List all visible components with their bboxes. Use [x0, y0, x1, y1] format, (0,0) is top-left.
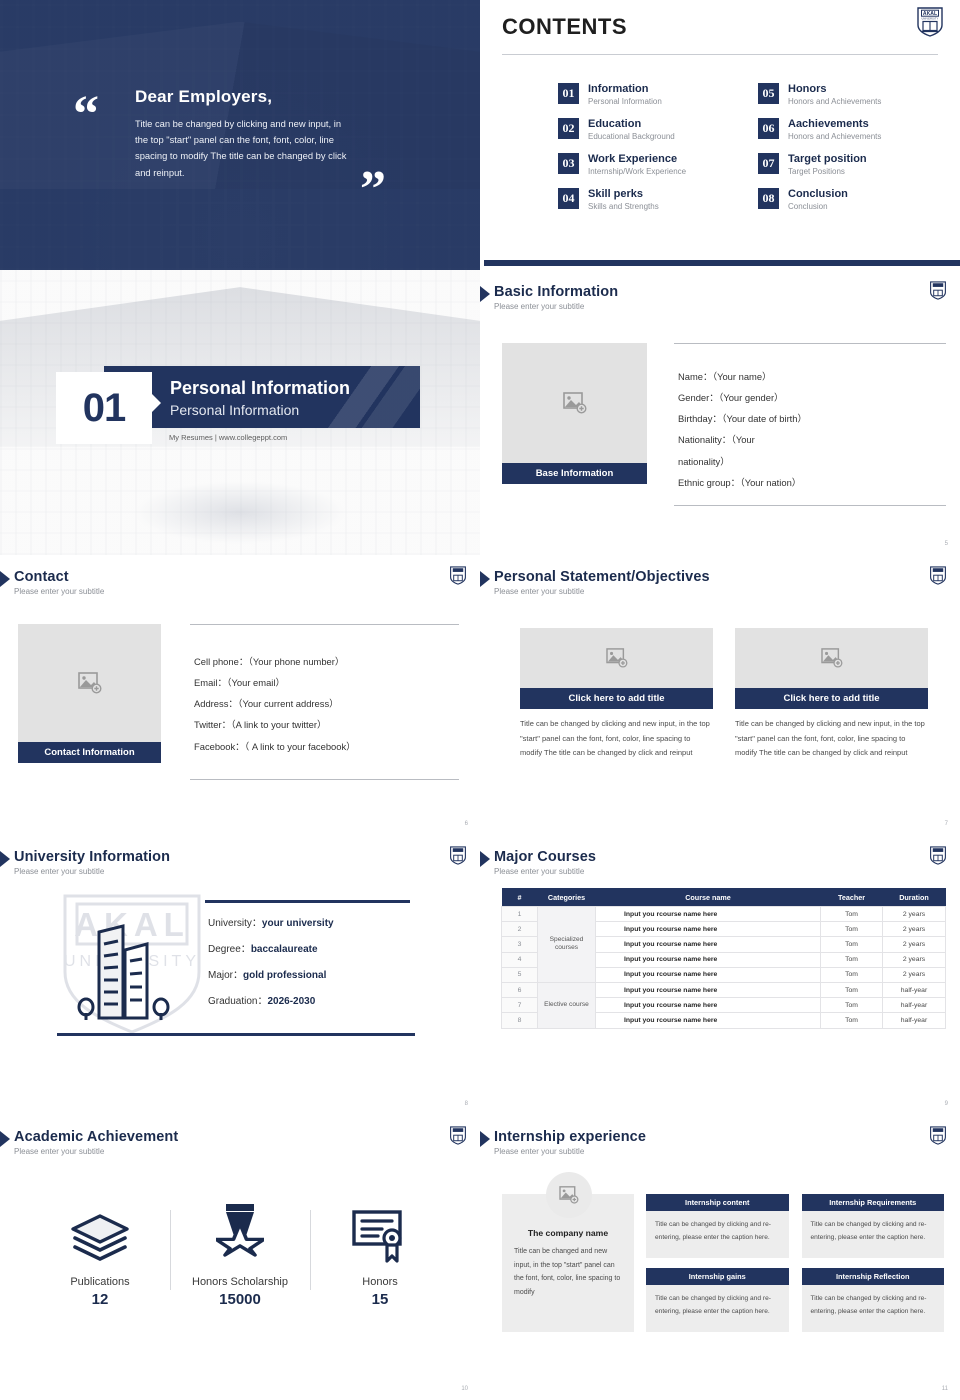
cell-duration: 2 years [883, 937, 946, 952]
divider-title: Personal Information [170, 378, 350, 399]
table-row[interactable]: 1 Specialized courses Input you rcourse … [502, 907, 946, 922]
quote-close-icon: ” [360, 172, 386, 208]
akal-logo-icon [930, 566, 946, 590]
cell-coursename: Input you rcourse name here [596, 922, 821, 937]
col-duration: Duration [883, 888, 946, 907]
cell-coursename: Input you rcourse name here [596, 998, 821, 1013]
triangle-bullet-icon [480, 286, 490, 302]
cell-teacher: Tom [821, 952, 883, 967]
col-index: # [502, 888, 538, 907]
achievement-stats: Publications 12 Honors Scholarship 15000 [0, 1202, 480, 1308]
photo-placeholder-wrap[interactable]: Base Information [502, 343, 647, 484]
toc-number: 02 [558, 118, 579, 139]
statement-card-2[interactable]: Click here to add title Title can be cha… [735, 628, 928, 761]
major-label: Major： [208, 970, 243, 981]
internship-layout: The company name Title can be changed an… [480, 1178, 960, 1332]
svg-text:AKAL: AKAL [923, 11, 937, 17]
slide-university-information[interactable]: University Information Please enter your… [0, 835, 480, 1115]
page-number: 9 [945, 1101, 948, 1107]
contents-bottom-bar [484, 260, 960, 266]
cell-teacher: Tom [821, 967, 883, 982]
page-subtitle: Please enter your subtitle [494, 1147, 960, 1156]
internship-card-grid: Internship content Title can be changed … [646, 1194, 944, 1332]
triangle-bullet-icon [0, 571, 10, 587]
cell-duration: half-year [883, 998, 946, 1013]
slide-major-courses[interactable]: Major Courses Please enter your subtitle… [480, 835, 960, 1115]
panel-bottom-rule [674, 505, 946, 506]
akal-logo-icon [930, 281, 946, 305]
stat-publications[interactable]: Publications 12 [30, 1202, 170, 1308]
slide-cover[interactable]: “ ” Dear Employers, Title can be changed… [0, 0, 480, 270]
graduation-value: 2026-2030 [267, 996, 315, 1007]
cell-index: 6 [502, 982, 538, 997]
card-label[interactable]: Click here to add title [520, 688, 713, 709]
slide-header: University Information Please enter your… [0, 835, 480, 876]
slide-header: Contact Please enter your subtitle [0, 555, 480, 596]
slide-header: Major Courses Please enter your subtitle [480, 835, 960, 876]
akal-logo-icon [930, 846, 946, 870]
internship-card-requirements[interactable]: Internship Requirements Title can be cha… [802, 1194, 945, 1258]
quote-open-icon: “ [73, 97, 99, 133]
image-placeholder-icon [563, 392, 587, 414]
triangle-bullet-icon [0, 851, 10, 867]
card-text: Title can be changed by clicking and new… [735, 717, 928, 761]
page-subtitle: Please enter your subtitle [14, 587, 480, 596]
toc-item-05[interactable]: 05 Honors Honors and Achievements [758, 83, 938, 107]
cell-coursename: Input you rcourse name here [596, 952, 821, 967]
degree-row: Degree：baccalaureate [208, 940, 410, 955]
certificate-icon [310, 1202, 450, 1264]
cell-coursename: Input you rcourse name here [596, 967, 821, 982]
books-icon [30, 1202, 170, 1264]
page-subtitle: Please enter your subtitle [14, 1147, 480, 1156]
courses-table[interactable]: # Categories Course name Teacher Duratio… [501, 888, 946, 1029]
university-value: your university [262, 918, 334, 929]
photo-placeholder[interactable] [18, 624, 161, 742]
toc-subtitle: Conclusion [788, 202, 848, 212]
info-row-address: Address：（Your current address） [194, 693, 459, 714]
cover-title: Dear Employers, [135, 87, 272, 107]
page-title: CONTENTS [502, 14, 938, 40]
page-title: Contact [14, 569, 480, 585]
cell-duration: 2 years [883, 952, 946, 967]
slide-deck: “ ” Dear Employers, Title can be changed… [0, 0, 960, 1400]
photo-placeholder[interactable] [502, 343, 647, 463]
stat-label: Honors [310, 1276, 450, 1288]
toc-number: 07 [758, 153, 779, 174]
cell-index: 4 [502, 952, 538, 967]
triangle-bullet-icon [480, 571, 490, 587]
info-row-nationality-cont: nationality） [678, 451, 946, 472]
statement-columns: Click here to add title Title can be cha… [480, 612, 960, 761]
cell-teacher: Tom [821, 1013, 883, 1028]
cell-coursename: Input you rcourse name here [596, 907, 821, 922]
toc-number: 04 [558, 188, 579, 209]
page-number: 5 [945, 541, 948, 547]
cell-coursename: Input you rcourse name here [596, 937, 821, 952]
cell-teacher: Tom [821, 998, 883, 1013]
internship-card-gains[interactable]: Internship gains Title can be changed by… [646, 1268, 789, 1332]
akal-logo-icon: AKAL UNIVERSITY [917, 7, 943, 42]
stat-label: Publications [30, 1276, 170, 1288]
contact-info-panel: Cell phone：（Your phone number） Email：（Yo… [190, 624, 459, 780]
page-title: Basic Information [494, 284, 960, 300]
slide-header: Academic Achievement Please enter your s… [0, 1115, 480, 1156]
photo-label: Base Information [502, 463, 647, 484]
cell-index: 5 [502, 967, 538, 982]
cell-teacher: Tom [821, 982, 883, 997]
toc-title: Work Experience [588, 153, 686, 166]
slide-academic-achievement[interactable]: Academic Achievement Please enter your s… [0, 1115, 480, 1400]
stat-label: Honors Scholarship [170, 1276, 310, 1288]
basic-info-list: Name：（Your name） Gender：（Your gender） Bi… [674, 344, 946, 493]
divider-number-box: 01 [56, 372, 152, 444]
col-coursename: Course name [596, 888, 821, 907]
page-title: Internship experience [494, 1129, 960, 1145]
toc-item-07[interactable]: 07 Target position Target Positions [758, 153, 938, 177]
cell-coursename: Input you rcourse name here [596, 982, 821, 997]
cell-duration: half-year [883, 982, 946, 997]
toc-subtitle: Target Positions [788, 167, 867, 177]
toc-subtitle: Internship/Work Experience [588, 167, 686, 177]
cell-index: 1 [502, 907, 538, 922]
image-placeholder-icon [606, 648, 628, 668]
slide-basic-information[interactable]: Basic Information Please enter your subt… [480, 270, 960, 555]
toc-item-08[interactable]: 08 Conclusion Conclusion [758, 188, 938, 212]
triangle-bullet-icon [0, 1131, 10, 1147]
toc-title: Honors [788, 83, 881, 96]
stat-honors[interactable]: Honors 15 [310, 1202, 450, 1308]
university-panel: AKAL UNIVERSITY [55, 892, 415, 1042]
card-header: Internship content [646, 1194, 789, 1211]
image-placeholder-icon [559, 1186, 579, 1204]
company-name: The company name [514, 1228, 622, 1238]
toc-item-04[interactable]: 04 Skill perks Skills and Strengths [558, 188, 738, 212]
col-teacher: Teacher [821, 888, 883, 907]
info-row-facebook: Facebook：（ A link to your facebook） [194, 736, 459, 757]
page-title: Academic Achievement [14, 1129, 480, 1145]
degree-value: baccalaureate [251, 944, 318, 955]
cell-index: 3 [502, 937, 538, 952]
page-number: 10 [461, 1386, 468, 1392]
toc-title: Skill perks [588, 188, 659, 201]
toc-title: Aachievements [788, 118, 881, 131]
cell-index: 7 [502, 998, 538, 1013]
toc-subtitle: Skills and Strengths [588, 202, 659, 212]
table-row[interactable]: 6 Elective course Input you rcourse name… [502, 982, 946, 997]
svg-text:UNIVERSITY: UNIVERSITY [921, 18, 938, 21]
page-subtitle: Please enter your subtitle [494, 587, 960, 596]
card-body: Title can be changed by clicking and re-… [646, 1285, 789, 1332]
cell-duration: 2 years [883, 967, 946, 982]
statement-card-1[interactable]: Click here to add title Title can be cha… [520, 628, 713, 761]
toc-title: Conclusion [788, 188, 848, 201]
photo-placeholder[interactable] [520, 628, 713, 688]
company-photo-placeholder[interactable] [546, 1172, 592, 1218]
page-number: 6 [465, 821, 468, 827]
card-text: Title can be changed by clicking and new… [520, 717, 713, 761]
page-number: 7 [945, 821, 948, 827]
internship-card-content[interactable]: Internship content Title can be changed … [646, 1194, 789, 1258]
divider-subtitle: Personal Information [170, 402, 299, 418]
cell-teacher: Tom [821, 922, 883, 937]
university-row: University：your university [208, 914, 410, 929]
toc-title: Target position [788, 153, 867, 166]
toc-number: 08 [758, 188, 779, 209]
stat-value: 15000 [170, 1291, 310, 1308]
photo-placeholder-wrap[interactable]: Contact Information [18, 624, 161, 763]
page-title: Major Courses [494, 849, 960, 865]
divider-arrow-icon [152, 394, 161, 412]
card-label[interactable]: Click here to add title [735, 688, 928, 709]
card-header: Internship Requirements [802, 1194, 945, 1211]
basic-info-panel: Name：（Your name） Gender：（Your gender） Bi… [674, 343, 946, 506]
divider-footer: My Resumes | www.collegeppt.com [169, 433, 287, 442]
toc-subtitle: Honors and Achievements [788, 97, 881, 107]
field-bottom-bar [57, 1033, 415, 1036]
cell-teacher: Tom [821, 937, 883, 952]
title-divider [502, 54, 938, 55]
page-title: Personal Statement/Objectives [494, 569, 960, 585]
toc-subtitle: Honors and Achievements [788, 132, 881, 142]
table-header-row: # Categories Course name Teacher Duratio… [502, 888, 946, 907]
graduation-label: Graduation： [208, 996, 267, 1007]
page-number: 11 [942, 1386, 948, 1392]
contact-info-list: Cell phone：（Your phone number） Email：（Yo… [190, 625, 459, 757]
cell-category-elective: Elective course [538, 982, 596, 1028]
page-subtitle: Please enter your subtitle [494, 302, 960, 311]
page-number: 8 [465, 1101, 468, 1107]
slide-contents[interactable]: CONTENTS AKAL UNIVERSITY 01 Information … [480, 0, 960, 270]
page-title: University Information [14, 849, 480, 865]
slide-header: Personal Statement/Objectives Please ent… [480, 555, 960, 596]
cell-duration: 2 years [883, 907, 946, 922]
photo-label: Contact Information [18, 742, 161, 763]
info-row-name: Name：（Your name） [678, 366, 946, 387]
degree-label: Degree： [208, 944, 251, 955]
toc-title: Education [588, 118, 675, 131]
card-header: Internship gains [646, 1268, 789, 1285]
cell-duration: 2 years [883, 922, 946, 937]
info-row-gender: Gender：（Your gender） [678, 387, 946, 408]
akal-logo-icon [930, 1126, 946, 1150]
triangle-bullet-icon [480, 1131, 490, 1147]
internship-company-card[interactable]: The company name Title can be changed an… [502, 1194, 634, 1332]
page-subtitle: Please enter your subtitle [14, 867, 480, 876]
field-top-bar [205, 900, 410, 903]
info-row-twitter: Twitter：（A link to your twitter） [194, 714, 459, 735]
divider-fountain [134, 481, 345, 544]
photo-placeholder[interactable] [735, 628, 928, 688]
info-row-email: Email：（Your email） [194, 672, 459, 693]
university-label: University： [208, 918, 262, 929]
card-body: Title can be changed by clicking and re-… [802, 1285, 945, 1332]
cell-teacher: Tom [821, 907, 883, 922]
slide-contact[interactable]: Contact Please enter your subtitle [0, 555, 480, 835]
slide-personal-statement[interactable]: Personal Statement/Objectives Please ent… [480, 555, 960, 835]
cell-index: 8 [502, 1013, 538, 1028]
contents-list: 01 Information Personal Information 05 H… [502, 83, 938, 212]
card-header: Internship Reflection [802, 1268, 945, 1285]
image-placeholder-icon [78, 672, 102, 694]
toc-number: 03 [558, 153, 579, 174]
card-body: Title can be changed by clicking and re-… [802, 1211, 945, 1258]
internship-card-reflection[interactable]: Internship Reflection Title can be chang… [802, 1268, 945, 1332]
cover-body-text: Title can be changed by clicking and new… [135, 116, 350, 181]
image-placeholder-icon [821, 648, 843, 668]
toc-number: 05 [758, 83, 779, 104]
slide-header: Internship experience Please enter your … [480, 1115, 960, 1156]
akal-logo-icon [450, 566, 466, 590]
cell-index: 2 [502, 922, 538, 937]
info-row-cellphone: Cell phone：（Your phone number） [194, 651, 459, 672]
cell-category-specialized: Specialized courses [538, 907, 596, 983]
toc-item-03[interactable]: 03 Work Experience Internship/Work Exper… [558, 153, 738, 177]
slide-internship-experience[interactable]: Internship experience Please enter your … [480, 1115, 960, 1400]
toc-item-01[interactable]: 01 Information Personal Information [558, 83, 738, 107]
akal-logo-icon [450, 846, 466, 870]
major-value: gold professional [243, 970, 326, 981]
info-row-ethnic: Ethnic group：（Your nation） [678, 472, 946, 493]
toc-item-02[interactable]: 02 Education Educational Background [558, 118, 738, 142]
col-categories: Categories [538, 888, 596, 907]
toc-subtitle: Educational Background [588, 132, 675, 142]
toc-subtitle: Personal Information [588, 97, 662, 107]
stat-value: 15 [310, 1291, 450, 1308]
info-row-nationality: Nationality：（Your [678, 429, 946, 450]
company-description: Title can be changed and new input, in t… [514, 1245, 622, 1300]
card-body: Title can be changed by clicking and re-… [646, 1211, 789, 1258]
major-row: Major：gold professional [208, 966, 410, 981]
cell-coursename: Input you rcourse name here [596, 1013, 821, 1028]
toc-item-06[interactable]: 06 Aachievements Honors and Achievements [758, 118, 938, 142]
slide-section-divider[interactable]: 01 Personal Information Personal Informa… [0, 270, 480, 555]
stat-value: 12 [30, 1291, 170, 1308]
cell-duration: half-year [883, 1013, 946, 1028]
page-subtitle: Please enter your subtitle [494, 867, 960, 876]
buildings-icon [69, 914, 197, 1032]
toc-number: 06 [758, 118, 779, 139]
slide-header: Basic Information Please enter your subt… [480, 270, 960, 311]
university-fields: University：your university Degree：baccal… [205, 900, 410, 1007]
medal-icon [170, 1202, 310, 1264]
stat-honors-scholarship[interactable]: Honors Scholarship 15000 [170, 1202, 310, 1308]
triangle-bullet-icon [480, 851, 490, 867]
info-row-birthday: Birthday：（Your date of birth） [678, 408, 946, 429]
divider-number: 01 [83, 386, 126, 431]
graduation-row: Graduation：2026-2030 [208, 992, 410, 1007]
akal-logo-icon [450, 1126, 466, 1150]
toc-title: Information [588, 83, 662, 96]
panel-bottom-rule [190, 779, 459, 780]
toc-number: 01 [558, 83, 579, 104]
